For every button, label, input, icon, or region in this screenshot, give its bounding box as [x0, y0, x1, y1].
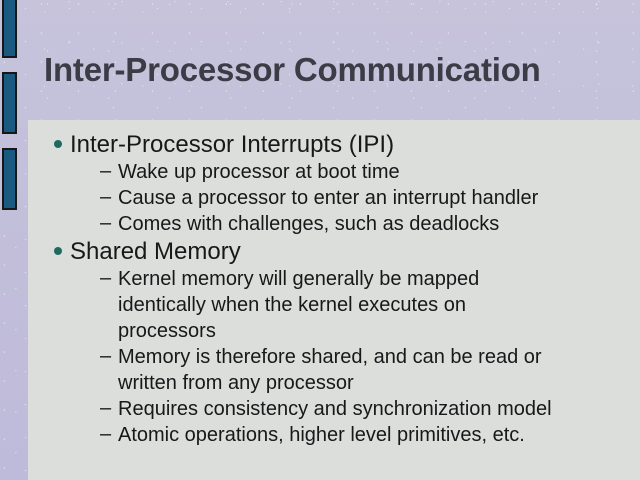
- sub-bullet-label: Kernel memory will generally be mapped i…: [118, 266, 548, 344]
- dash-icon: –: [100, 210, 111, 236]
- bullet-dot-icon: [54, 247, 62, 255]
- sub-bullet-item: – Requires consistency and synchronizati…: [70, 396, 632, 422]
- dash-icon: –: [100, 421, 111, 447]
- slide: Inter-Processor Communication Inter-Proc…: [0, 0, 640, 480]
- dash-icon: –: [100, 265, 111, 291]
- bullet-label: Shared Memory: [70, 237, 632, 266]
- sub-bullet-list: – Wake up processor at boot time – Cause…: [70, 159, 632, 237]
- sub-bullet-item: – Kernel memory will generally be mapped…: [70, 266, 632, 344]
- sub-bullet-label: Comes with challenges, such as deadlocks: [118, 211, 632, 237]
- sub-bullet-label: Wake up processor at boot time: [118, 159, 632, 185]
- slide-title: Inter-Processor Communication: [44, 44, 624, 96]
- sub-bullet-item: – Memory is therefore shared, and can be…: [70, 344, 632, 396]
- bullet-label: Inter-Processor Interrupts (IPI): [70, 130, 632, 159]
- sub-bullet-label: Cause a processor to enter an interrupt …: [118, 185, 632, 211]
- dash-icon: –: [100, 184, 111, 210]
- sub-bullet-item: – Cause a processor to enter an interrup…: [70, 185, 632, 211]
- sub-bullet-list: – Kernel memory will generally be mapped…: [70, 266, 632, 448]
- bullet-list: Inter-Processor Interrupts (IPI) – Wake …: [36, 130, 632, 448]
- accent-bar-top: [2, 0, 17, 58]
- bullet-item: Inter-Processor Interrupts (IPI) – Wake …: [36, 130, 632, 237]
- bullet-item: Shared Memory – Kernel memory will gener…: [36, 237, 632, 448]
- sub-bullet-label: Requires consistency and synchronization…: [118, 396, 632, 422]
- accent-bar-bottom: [2, 148, 17, 210]
- dash-icon: –: [100, 158, 111, 184]
- bullet-dot-icon: [54, 140, 62, 148]
- dash-icon: –: [100, 395, 111, 421]
- sub-bullet-item: – Wake up processor at boot time: [70, 159, 632, 185]
- sub-bullet-label: Memory is therefore shared, and can be r…: [118, 344, 588, 396]
- slide-content-panel: Inter-Processor Interrupts (IPI) – Wake …: [28, 120, 640, 480]
- sub-bullet-label: Atomic operations, higher level primitiv…: [118, 422, 632, 448]
- sub-bullet-item: – Comes with challenges, such as deadloc…: [70, 211, 632, 237]
- sub-bullet-item: – Atomic operations, higher level primit…: [70, 422, 632, 448]
- accent-bar-middle: [2, 72, 17, 134]
- dash-icon: –: [100, 343, 111, 369]
